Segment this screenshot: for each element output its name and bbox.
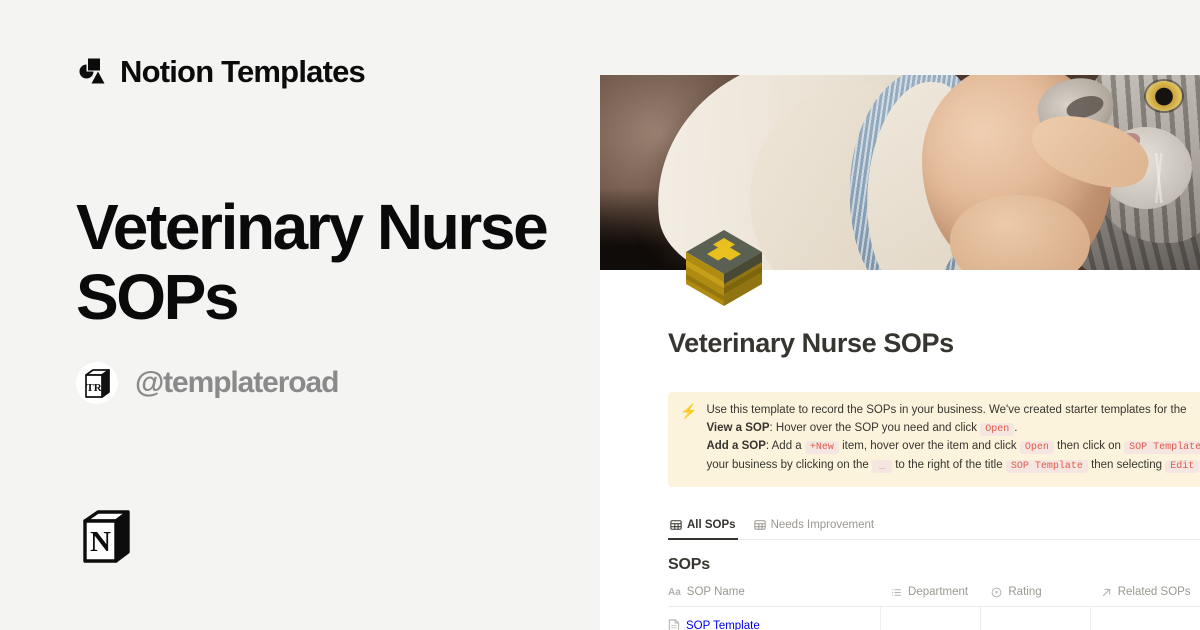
- author-handle: @templateroad: [135, 368, 338, 398]
- callout-text: Use this template to record the SOPs in …: [706, 402, 1200, 475]
- open-tag-2[interactable]: Open: [1020, 441, 1054, 454]
- table-view-icon: [670, 519, 682, 531]
- callout-line-3: Add a SOP: Add a +New item, hover over t…: [706, 438, 1200, 457]
- cell-rating[interactable]: [981, 607, 1090, 630]
- underscore-tag[interactable]: _: [872, 460, 892, 473]
- new-tag[interactable]: +New: [805, 441, 839, 454]
- column-header-sop-name[interactable]: Aa SOP Name: [668, 586, 881, 606]
- table-row[interactable]: SOP Template: [668, 607, 1200, 630]
- cell-department[interactable]: [881, 607, 981, 630]
- left-branding-panel: Notion Templates Veterinary Nurse SOPs T…: [0, 0, 600, 630]
- notion-cube-logo-icon: N: [76, 506, 136, 566]
- callout-line-2: View a SOP: Hover over the SOP you need …: [706, 420, 1200, 439]
- column-label: Related SOPs: [1118, 586, 1191, 598]
- tab-all-sops[interactable]: All SOPs: [668, 519, 738, 540]
- page-document-icon: [668, 619, 680, 630]
- callout-block: ⚡ Use this template to record the SOPs i…: [668, 392, 1200, 487]
- sops-table: Aa SOP Name Department: [668, 586, 1200, 630]
- tab-label: All SOPs: [687, 519, 736, 531]
- column-label: Department: [908, 586, 968, 598]
- svg-text:TR: TR: [86, 382, 102, 394]
- svg-text:N: N: [90, 526, 111, 558]
- callout-line-4: your business by clicking on the _ to th…: [706, 457, 1200, 476]
- callout-line-1: Use this template to record the SOPs in …: [706, 402, 1200, 420]
- brand-title: Notion Templates: [120, 56, 365, 87]
- first-aid-box-icon[interactable]: [678, 222, 770, 314]
- column-label: Rating: [1008, 586, 1041, 598]
- tr-cube-avatar-icon: TR: [76, 362, 118, 404]
- row-title-text: SOP Template: [686, 620, 760, 630]
- column-label: SOP Name: [687, 586, 745, 598]
- column-header-department[interactable]: Department: [881, 586, 981, 606]
- edit-tag[interactable]: Edit: [1165, 460, 1199, 473]
- notion-page-preview: Veterinary Nurse SOPs ⚡ Use this templat…: [600, 75, 1200, 630]
- notion-page-title: Veterinary Nurse SOPs: [668, 327, 1200, 359]
- database-title: SOPs: [668, 556, 1200, 574]
- table-view-icon-2: [754, 519, 766, 531]
- tab-needs-improvement[interactable]: Needs Improvement: [752, 519, 877, 540]
- title-text-icon: Aa: [668, 587, 681, 598]
- page-content: Veterinary Nurse SOPs ⚡ Use this templat…: [600, 327, 1200, 630]
- cell-sop-name[interactable]: SOP Template: [668, 607, 881, 630]
- table-header-row: Aa SOP Name Department: [668, 586, 1200, 607]
- column-header-rating[interactable]: Rating: [981, 586, 1090, 606]
- lightning-bolt-icon: ⚡: [680, 402, 697, 420]
- column-header-related-sops[interactable]: Related SOPs: [1091, 586, 1200, 606]
- shapes-logo-icon: [76, 57, 106, 87]
- database-view-tabs: All SOPs Needs Improvement: [668, 519, 1200, 540]
- page-title: Veterinary Nurse SOPs: [76, 193, 576, 333]
- sop-template-tag-2[interactable]: SOP Template: [1006, 460, 1088, 473]
- cell-related-sops[interactable]: [1091, 607, 1200, 630]
- tab-label: Needs Improvement: [771, 519, 875, 531]
- row-title-link[interactable]: SOP Template: [686, 620, 760, 630]
- relation-icon: [1101, 587, 1112, 598]
- brand-header: Notion Templates: [76, 56, 365, 87]
- author-block: TR @templateroad: [76, 362, 338, 404]
- multi-select-icon: [891, 587, 902, 598]
- open-tag[interactable]: Open: [980, 423, 1014, 436]
- sop-template-tag[interactable]: SOP Template: [1124, 441, 1200, 454]
- select-icon: [991, 587, 1002, 598]
